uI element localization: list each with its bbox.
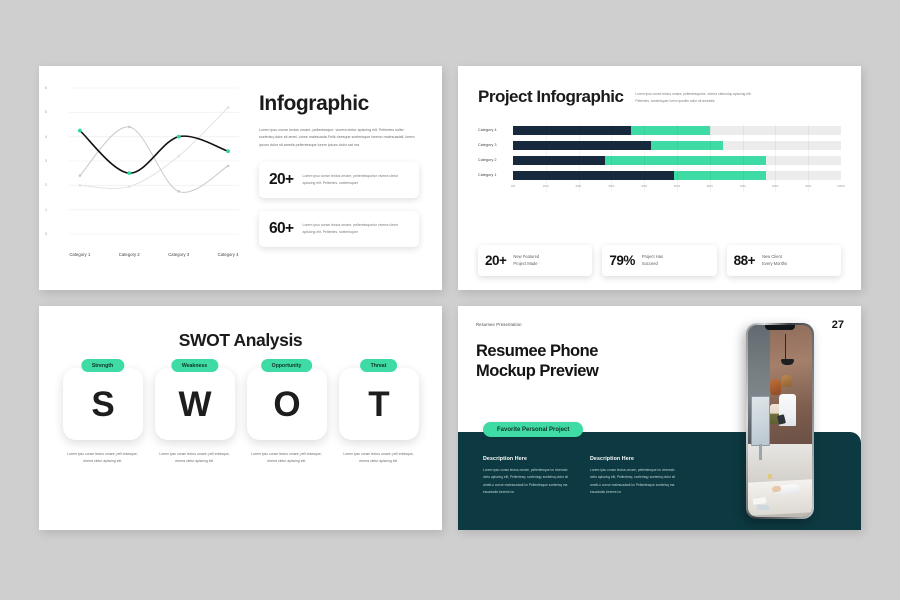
bar-segment-dark	[513, 156, 605, 165]
swot-column: W Weakness Lorem ipsu conse lectus ornar…	[155, 368, 235, 465]
swot-description: Lorem ipsu conse lectus ornare, pell ent…	[339, 451, 419, 465]
bar-segment-green	[605, 156, 766, 165]
slide-deck-preview: 0123456Category 1Category 2Category 3Cat…	[0, 0, 900, 600]
phone-screen	[748, 325, 813, 518]
line-chart-svg	[43, 80, 249, 258]
page-title: SWOT Analysis	[61, 330, 420, 351]
slide2-header: Project Infographic Lorem ipsu conse lec…	[478, 87, 841, 107]
kpi-label: New Client Every Months	[762, 254, 787, 268]
data-point-marker	[128, 126, 131, 129]
swot-description: Lorem ipsu conse lectus ornare, pell ent…	[155, 451, 235, 465]
kpi-label-line2: Every Months	[762, 261, 787, 268]
bar-chart-row: Category 2	[478, 154, 841, 166]
intro-paragraph: Lorem ipsu conse lectus ornare, pellente…	[259, 127, 416, 149]
bar-segment-green	[674, 171, 766, 180]
kpi-label: New Featured Project Made	[513, 254, 539, 268]
x-axis-tick-label: 90%	[805, 184, 811, 188]
page-number: 27	[832, 319, 844, 331]
swot-column: T Threat Lorem ipsu conse lectus ornare,…	[339, 368, 419, 465]
kpi-label-line1: Project Has	[642, 254, 663, 261]
bar-category-label: Category 1	[478, 173, 513, 177]
slide-project-infographic[interactable]: Project Infographic Lorem ipsu conse lec…	[458, 66, 861, 290]
x-axis-tick-label: 70%	[739, 184, 745, 188]
x-axis-tick-label: 60%	[707, 184, 713, 188]
y-axis-tick-label: 2	[45, 183, 47, 187]
swot-letter: W	[178, 387, 210, 422]
swot-letter: T	[368, 387, 388, 422]
line-series-3	[80, 107, 228, 188]
y-axis-tick-label: 6	[45, 86, 47, 90]
swot-card[interactable]: T	[339, 368, 419, 440]
bar-track	[513, 141, 841, 150]
swot-column: O Opportunity Lorem ipsu conse lectus or…	[247, 368, 327, 465]
kpi-number: 79%	[609, 253, 635, 268]
data-point-marker	[226, 149, 230, 153]
x-axis-tick-label: 30%	[608, 184, 614, 188]
stat-card[interactable]: 60+ Lorem ipsu conse lectus ornare, pell…	[259, 211, 419, 247]
bar-chart-row: Category 1	[478, 169, 841, 181]
phone-mockup	[746, 323, 814, 519]
swot-pill[interactable]: Opportunity	[261, 359, 313, 372]
swot-card[interactable]: O	[247, 368, 327, 440]
bar-track	[513, 126, 841, 135]
swot-card-row: S Strength Lorem ipsu conse lectus ornar…	[61, 368, 420, 465]
swot-description: Lorem ipsu conse lectus ornare, pell ent…	[63, 451, 143, 465]
stat-card[interactable]: 20+ Lorem ipsu conse lectus ornare, pell…	[259, 162, 419, 198]
swot-letter: S	[91, 387, 113, 422]
y-axis-tick-label: 5	[45, 110, 47, 114]
phone-notch-icon	[765, 325, 795, 330]
office-team-photo	[748, 325, 813, 518]
bar-segment-dark	[513, 171, 674, 180]
data-point-marker	[79, 174, 82, 177]
kpi-card[interactable]: 20+ New Featured Project Made	[478, 245, 592, 276]
x-axis-tick-label: 20%	[575, 184, 581, 188]
page-title: Infographic	[259, 92, 430, 116]
data-point-marker	[78, 129, 82, 133]
swot-description: Lorem ipsu conse lectus ornare, pell ent…	[247, 451, 327, 465]
intro-paragraph: Lorem ipsu conse lectus ornare, pellente…	[635, 87, 763, 105]
bar-chart-row: Category 4	[478, 124, 841, 136]
x-axis-tick-label: 80%	[772, 184, 778, 188]
slide-resumee-phone-mockup[interactable]: Resumee Presentation 27 Resumee Phone Mo…	[458, 306, 861, 530]
data-point-marker	[79, 184, 82, 187]
description-text: Lorem ipsu conse lectus ornare, pellente…	[483, 467, 572, 497]
x-axis-tick-label: 40%	[641, 184, 647, 188]
data-point-marker	[177, 135, 181, 139]
slide-swot-analysis[interactable]: SWOT Analysis S Strength Lorem ipsu cons…	[39, 306, 442, 530]
page-title: Project Infographic	[478, 87, 623, 107]
data-point-marker	[177, 190, 180, 193]
x-axis-tick-label: 100%	[837, 184, 845, 188]
stat-text: Lorem ipsu conse lectus ornare, pellente…	[303, 173, 410, 188]
bar-segment-green	[651, 141, 723, 150]
bar-chart: Category 4Category 3Category 2Category 1…	[478, 124, 841, 192]
swot-column: S Strength Lorem ipsu conse lectus ornar…	[63, 368, 143, 465]
x-axis-tick-label: Category 1	[69, 252, 90, 257]
kpi-label-line1: New Featured	[513, 254, 539, 261]
description-heading: Description Here	[590, 456, 679, 462]
bar-category-label: Category 3	[478, 143, 513, 147]
y-axis-tick-label: 1	[45, 208, 47, 212]
x-axis-tick-label: Category 2	[119, 252, 140, 257]
y-axis-tick-label: 4	[45, 135, 47, 139]
stat-number: 60+	[269, 220, 294, 238]
data-point-marker	[177, 155, 180, 158]
kpi-number: 20+	[485, 253, 506, 268]
description-text: Lorem ipsu conse lectus ornare, pellente…	[590, 467, 679, 497]
stat-text: Lorem ipsu conse lectus ornare, pellente…	[303, 222, 410, 237]
bar-segment-dark	[513, 126, 631, 135]
bar-track	[513, 171, 841, 180]
y-axis-tick-label: 3	[45, 159, 47, 163]
swot-card[interactable]: S	[63, 368, 143, 440]
line-chart: 0123456Category 1Category 2Category 3Cat…	[39, 66, 251, 290]
swot-letter: O	[273, 387, 299, 422]
bar-segment-dark	[513, 141, 651, 150]
kpi-card[interactable]: 88+ New Client Every Months	[727, 245, 841, 276]
data-point-marker	[128, 185, 131, 188]
x-axis-tick-label: Category 3	[168, 252, 189, 257]
description-column: Description Here Lorem ipsu conse lectus…	[590, 456, 679, 497]
swot-pill[interactable]: Weakness	[171, 359, 218, 372]
bar-track	[513, 156, 841, 165]
bar-category-label: Category 4	[478, 128, 513, 132]
bar-segment-green	[631, 126, 710, 135]
x-axis-tick-label: 50%	[674, 184, 680, 188]
x-axis-tick-label: Category 4	[218, 252, 239, 257]
kpi-label-line2: Succeed	[642, 261, 663, 268]
stat-number: 20+	[269, 171, 294, 189]
data-point-marker	[227, 106, 230, 109]
description-heading: Description Here	[483, 456, 572, 462]
swot-card[interactable]: W	[155, 368, 235, 440]
favorite-project-pill[interactable]: Favorite Personal Project	[483, 422, 583, 437]
data-point-marker	[227, 165, 230, 168]
kpi-label-line2: Project Made	[513, 261, 539, 268]
kpi-row: 20+ New Featured Project Made 79% Projec…	[478, 237, 841, 276]
swot-pill[interactable]: Threat	[360, 359, 398, 372]
description-column: Description Here Lorem ipsu conse lectus…	[483, 456, 572, 497]
slide-infographic[interactable]: 0123456Category 1Category 2Category 3Cat…	[39, 66, 442, 290]
kpi-card[interactable]: 79% Project Has Succeed	[602, 245, 716, 276]
kpi-number: 88+	[734, 253, 755, 268]
bar-x-axis: 0%10%20%30%40%50%60%70%80%90%100%	[513, 184, 841, 192]
swot-pill[interactable]: Strength	[81, 359, 124, 372]
infographic-text-panel: Infographic Lorem ipsu conse lectus orna…	[251, 66, 442, 290]
kpi-label: Project Has Succeed	[642, 254, 663, 268]
x-axis-tick-label: 10%	[543, 184, 549, 188]
bar-category-label: Category 2	[478, 158, 513, 162]
x-axis-tick-label: 0%	[511, 184, 515, 188]
kpi-label-line1: New Client	[762, 254, 787, 261]
data-point-marker	[127, 171, 131, 175]
bar-chart-row: Category 3	[478, 139, 841, 151]
y-axis-tick-label: 0	[45, 232, 47, 236]
